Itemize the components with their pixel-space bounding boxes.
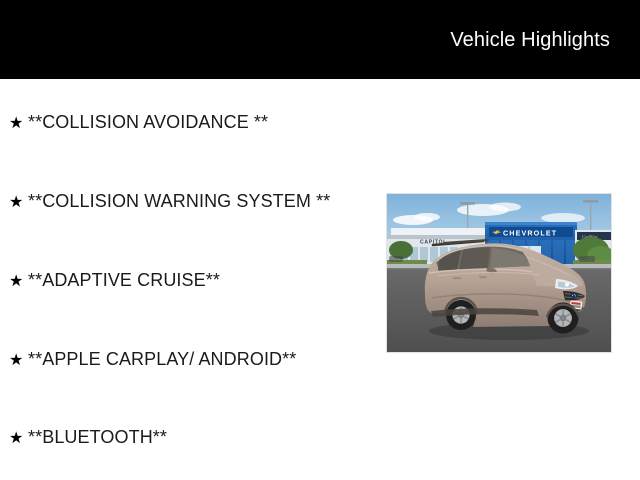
star-icon: ★: [9, 430, 28, 448]
list-item: ★ **BLUETOOTH**: [9, 427, 167, 448]
header-bar: Vehicle Highlights: [0, 0, 640, 79]
list-item-label: **COLLISION WARNING SYSTEM **: [28, 191, 330, 211]
list-item: ★ **COLLISION WARNING SYSTEM **: [9, 191, 330, 212]
list-item: ★ **APPLE CARPLAY/ ANDROID**: [9, 349, 296, 370]
vehicle-photo-illustration: CAPITOL CHEVROLET Ca: [387, 194, 612, 353]
star-icon: ★: [9, 273, 28, 291]
list-item: ★ **ADAPTIVE CRUISE**: [9, 270, 220, 291]
list-item-label: **APPLE CARPLAY/ ANDROID**: [28, 349, 296, 369]
svg-text:CHEVROLET: CHEVROLET: [503, 228, 557, 237]
star-icon: ★: [9, 115, 28, 133]
list-item-label: **COLLISION AVOIDANCE **: [28, 112, 268, 132]
vehicle-photo: CAPITOL CHEVROLET Ca: [386, 193, 612, 353]
page-title: Vehicle Highlights: [450, 29, 610, 51]
list-item-label: **BLUETOOTH**: [28, 427, 167, 447]
list-item-label: **ADAPTIVE CRUISE**: [28, 270, 220, 290]
star-icon: ★: [9, 194, 28, 212]
star-icon: ★: [9, 352, 28, 370]
list-item: ★ **COLLISION AVOIDANCE **: [9, 112, 268, 133]
